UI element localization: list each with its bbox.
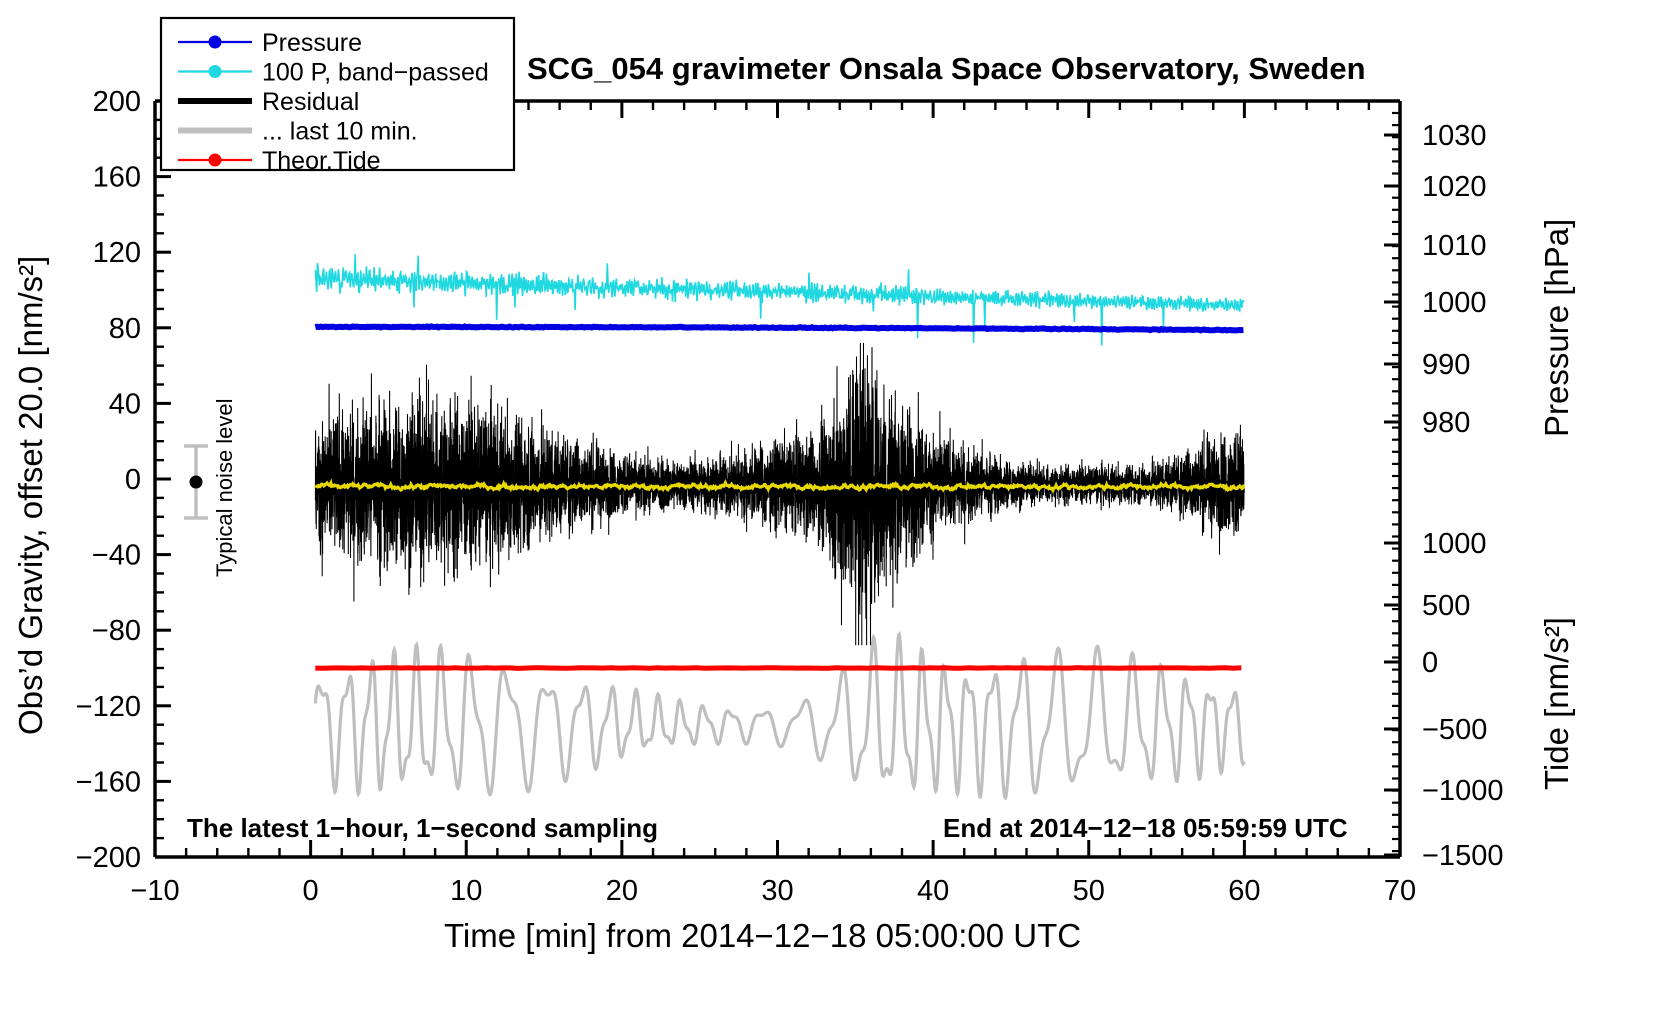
legend-swatch-marker — [209, 154, 222, 167]
right-tick-label: 1020 — [1422, 171, 1487, 203]
y-tick-label: 160 — [93, 162, 141, 194]
y-tick-label: −160 — [76, 766, 141, 798]
y-axis-right-pressure-title: Pressure [hPa] — [1538, 219, 1575, 437]
legend-label: Residual — [262, 88, 359, 116]
y-tick-label: 120 — [93, 237, 141, 269]
x-tick-label: −10 — [130, 875, 179, 907]
x-tick-label: 50 — [1073, 875, 1105, 907]
y-tick-label: 0 — [125, 464, 141, 496]
x-tick-label: 30 — [761, 875, 793, 907]
y-tick-label: 40 — [109, 388, 141, 420]
legend-swatch-marker — [209, 65, 222, 78]
right-tick-label: 1030 — [1422, 120, 1487, 152]
x-axis-title: Time [min] from 2014−12−18 05:00:00 UTC — [444, 917, 1081, 954]
series-theor-tide — [315, 668, 1241, 669]
legend-label: Theor.Tide — [262, 147, 381, 175]
typical-noise-level-label: Typical noise level — [212, 398, 237, 577]
x-tick-label: 10 — [450, 875, 482, 907]
y-tick-label: 80 — [109, 313, 141, 345]
sampling-note: The latest 1−hour, 1−second sampling — [187, 813, 658, 843]
right-tick-label: 0 — [1422, 647, 1438, 679]
legend-label: ... last 10 min. — [262, 118, 418, 146]
legend-label: 100 P, band−passed — [262, 59, 489, 87]
x-tick-label: 60 — [1228, 875, 1260, 907]
y-tick-label: −200 — [76, 842, 141, 874]
chart-title: SCG_054 gravimeter Onsala Space Observat… — [527, 51, 1366, 86]
right-tick-label: 1010 — [1422, 230, 1487, 262]
y-tick-label: −40 — [92, 540, 141, 572]
right-tick-label: −500 — [1422, 714, 1487, 746]
x-tick-label: 20 — [606, 875, 638, 907]
x-tick-label: 40 — [917, 875, 949, 907]
legend-label: Pressure — [262, 29, 362, 57]
chart-canvas: 20016012080400−40−80−120−160−200 −100102… — [0, 0, 1660, 1020]
x-tick-label: 70 — [1384, 875, 1416, 907]
y-tick-label: −80 — [92, 615, 141, 647]
y-axis-right-tide-title: Tide [nm/s²] — [1538, 617, 1575, 790]
x-tick-label: 0 — [303, 875, 319, 907]
y-tick-label: −120 — [76, 691, 141, 723]
right-tick-label: −1500 — [1422, 840, 1503, 872]
right-tick-label: 1000 — [1422, 528, 1487, 560]
y-tick-label: 200 — [93, 86, 141, 118]
gravimeter-timeseries-figure: 20016012080400−40−80−120−160−200 −100102… — [0, 0, 1660, 1020]
legend[interactable]: Pressure100 P, band−passedResidual... la… — [161, 18, 514, 175]
end-time-note: End at 2014−12−18 05:59:59 UTC — [943, 813, 1348, 843]
right-tick-label: 990 — [1422, 349, 1470, 381]
right-tick-label: −1000 — [1422, 775, 1503, 807]
y-axis-left-title: Obs’d Gravity, offset 20.0 [nm/s²] — [12, 256, 49, 735]
right-tick-label: 500 — [1422, 590, 1470, 622]
right-tick-label: 980 — [1422, 407, 1470, 439]
legend-swatch-marker — [209, 36, 222, 49]
right-tick-label: 1000 — [1422, 287, 1487, 319]
